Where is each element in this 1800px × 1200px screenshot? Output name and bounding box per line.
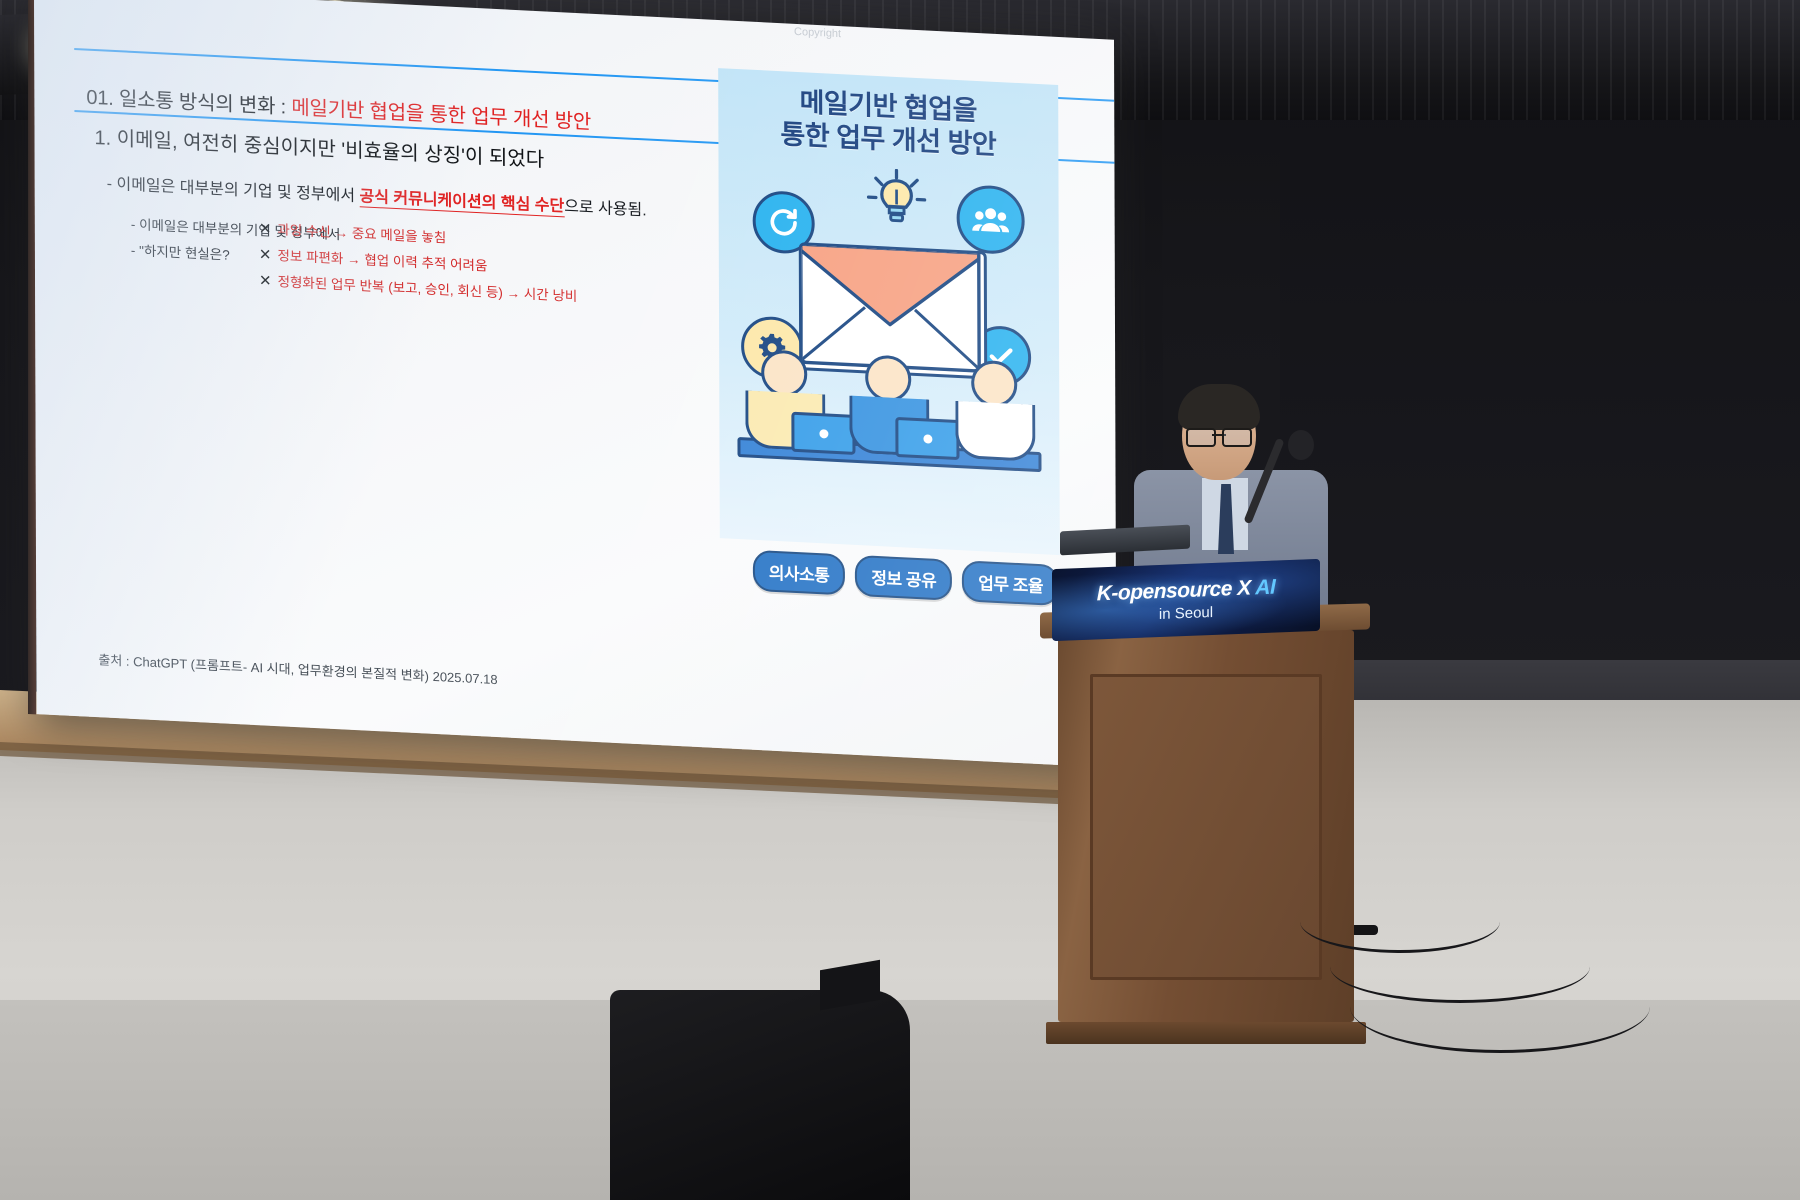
badge-communication: 의사소통 xyxy=(753,550,846,596)
podium: K-opensource X AI in Seoul xyxy=(1040,608,1370,1028)
floor-cable-2 xyxy=(1350,960,1650,1053)
lightbulb-icon xyxy=(866,167,910,225)
laptop-logo xyxy=(819,429,828,438)
laptop-center xyxy=(895,417,959,460)
slide-source-note: 출처 : ChatGPT (프롬프트- AI 시대, 업무환경의 본질적 변화)… xyxy=(98,649,497,688)
brand-name: K-opensource xyxy=(1097,577,1232,605)
podium-body xyxy=(1058,630,1354,1022)
person-left-head xyxy=(761,349,807,397)
microphone-head xyxy=(1288,430,1314,460)
laptop-left xyxy=(791,412,855,455)
collaboration-illustration xyxy=(719,342,1060,509)
podium-brand-sign: K-opensource X AI in Seoul xyxy=(1052,559,1320,641)
presenter-hair xyxy=(1178,384,1260,430)
auditorium-scene: Copyright 01. 일소통 방식의 변화 : 메일기반 협업을 통한 업… xyxy=(0,0,1800,1200)
infographic-card: 메일기반 협업을 통한 업무 개선 방안 xyxy=(718,68,1060,555)
lead-line: - 이메일은 대부분의 기업 및 정부에서 공식 커뮤니케이션의 핵심 수단으로… xyxy=(107,170,647,221)
foreground-stage-monitor xyxy=(610,990,910,1200)
x-mark-icon: ✕ xyxy=(259,220,272,238)
lead-before: - 이메일은 대부분의 기업 및 정부에서 xyxy=(107,176,360,206)
eyeglasses-icon xyxy=(1186,428,1252,444)
lead-highlight: 공식 커뮤니케이션의 핵심 수단 xyxy=(359,188,564,217)
brand-line-2: in Seoul xyxy=(1159,603,1213,622)
pain-point-2: ✕정보 파편화 → 협업 이력 추적 어려움 xyxy=(259,243,488,274)
pain-point-1-text: 과잉 수신 → 중요 메일을 놓침 xyxy=(277,222,446,245)
infographic-title: 메일기반 협업을 통한 업무 개선 방안 xyxy=(718,82,1058,165)
brand-ai: AI xyxy=(1255,575,1275,599)
lead-after: 으로 사용됨. xyxy=(564,198,647,219)
pain-point-2-text: 정보 파편화 → 협업 이력 추적 어려움 xyxy=(277,248,487,273)
floor-cable-3 xyxy=(1300,890,1500,953)
pain-point-1: ✕과잉 수신 → 중요 메일을 놓침 xyxy=(259,217,447,246)
badge-info-sharing: 정보 공유 xyxy=(855,555,952,601)
sub-bullet-2: - "하지만 현실은? xyxy=(131,239,230,264)
users-icon xyxy=(957,184,1025,255)
laptop-logo xyxy=(923,434,932,443)
person-center-head xyxy=(865,354,911,402)
x-mark-icon: ✕ xyxy=(259,246,272,264)
pain-point-3-text: 정형화된 업무 반복 (보고, 승인, 회신 등) → 시간 낭비 xyxy=(278,274,578,304)
x-mark-icon: ✕ xyxy=(259,272,272,290)
person-right xyxy=(955,359,1035,462)
pain-point-3: ✕정형화된 업무 반복 (보고, 승인, 회신 등) → 시간 낭비 xyxy=(259,269,577,305)
person-right-body xyxy=(955,401,1035,462)
podium-front-panel xyxy=(1090,674,1322,980)
projection-screen: Copyright 01. 일소통 방식의 변화 : 메일기반 협업을 통한 업… xyxy=(34,0,1117,768)
podium-base xyxy=(1046,1022,1366,1044)
badge-row: 의사소통 정보 공유 업무 조율 xyxy=(726,548,1086,607)
person-right-head xyxy=(971,360,1017,408)
brand-x: X xyxy=(1232,576,1255,600)
copyright-text: Copyright xyxy=(794,26,841,40)
badge-work-coordination: 업무 조율 xyxy=(962,560,1059,606)
